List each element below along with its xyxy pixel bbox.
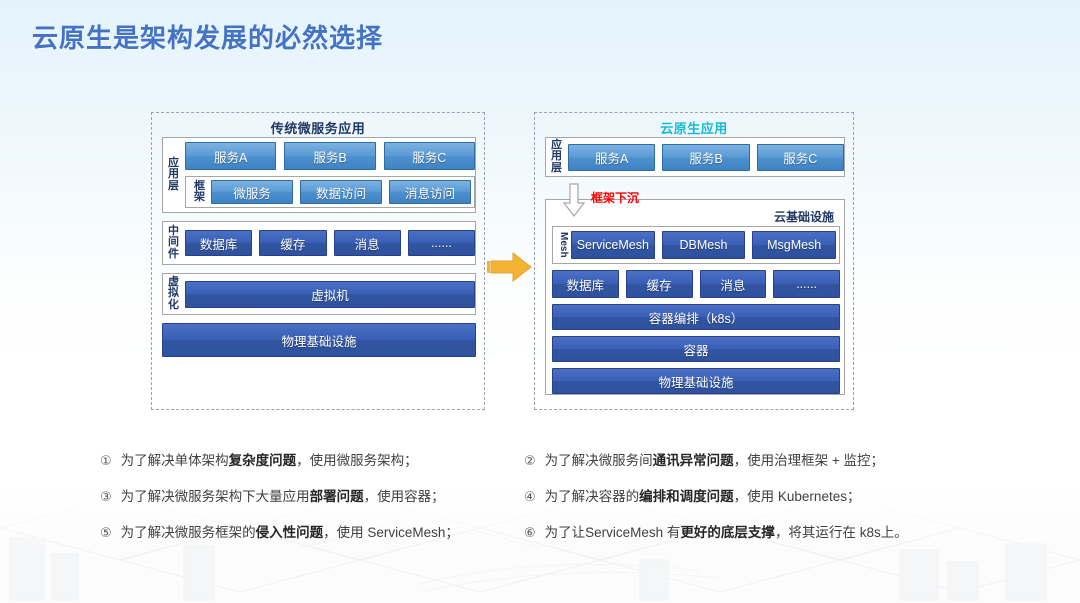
right-physical-infrastructure-box[interactable]: 物理基础设施: [552, 368, 840, 394]
left-framework-label: 框架: [192, 181, 207, 203]
right-application-layer-label: 应用层: [549, 140, 564, 174]
right-service-b-box[interactable]: 服务B: [662, 144, 749, 171]
container-box[interactable]: 容器: [552, 336, 840, 362]
note-number: ②: [524, 452, 536, 470]
service-mesh-box[interactable]: ServiceMesh: [571, 231, 655, 259]
note-text: 为了让ServiceMesh 有更好的底层支撑，将其运行在 k8s上。: [545, 524, 908, 542]
left-virtual-machine-box[interactable]: 虚拟机: [185, 281, 475, 308]
left-services-row: 服务A 服务B 服务C: [185, 142, 475, 170]
framework-sink-arrow-icon: [563, 183, 585, 217]
transition-arrow-icon: [487, 249, 535, 285]
left-virtualization-group: 虚拟化 虚拟机: [162, 273, 476, 315]
note-item: ⑤ 为了解决微服务框架的侵入性问题，使用 ServiceMesh；: [100, 524, 520, 542]
left-application-layer-group: 应用层 服务A 服务B 服务C 框架 微服务 数据访问 消息访问: [162, 137, 476, 213]
msg-mesh-box[interactable]: MsgMesh: [752, 231, 836, 259]
right-middleware-row: 数据库 缓存 消息 ......: [552, 270, 840, 298]
note-item: ③ 为了解决微服务架构下大量应用部署问题，使用容器；: [100, 488, 520, 506]
right-physical-row: 物理基础设施: [552, 368, 840, 394]
note-number: ③: [100, 488, 112, 506]
right-middleware-database-box[interactable]: 数据库: [552, 270, 619, 298]
note-text: 为了解决微服务间通讯异常问题，使用治理框架 + 监控；: [545, 452, 884, 470]
note-item: ① 为了解决单体架构复杂度问题，使用微服务架构；: [100, 452, 520, 470]
container-orchestration-box[interactable]: 容器编排（k8s）: [552, 304, 840, 330]
orchestration-row: 容器编排（k8s）: [552, 304, 840, 330]
note-item: ④ 为了解决容器的编排和调度问题，使用 Kubernetes；: [524, 488, 964, 506]
left-middleware-label: 中间件: [166, 226, 181, 260]
page-title: 云原生是架构发展的必然选择: [32, 18, 383, 55]
notes-column-right: ② 为了解决微服务间通讯异常问题，使用治理框架 + 监控； ④ 为了解决容器的编…: [524, 452, 964, 561]
note-text: 为了解决单体架构复杂度问题，使用微服务架构；: [121, 452, 418, 470]
right-middleware-cache-box[interactable]: 缓存: [626, 270, 693, 298]
left-middleware-message-box[interactable]: 消息: [334, 230, 401, 256]
mesh-side-label: Mesh: [556, 229, 571, 261]
cloud-infrastructure-group: 云基础设施 Mesh ServiceMesh DBMesh MsgMesh 数据…: [545, 199, 845, 395]
mesh-group: Mesh ServiceMesh DBMesh MsgMesh: [552, 226, 840, 264]
traditional-microservice-panel: 传统微服务应用 应用层 服务A 服务B 服务C 框架 微服务 数据访问 消息访问…: [151, 112, 485, 410]
left-framework-data-access-box[interactable]: 数据访问: [300, 180, 382, 204]
left-framework-message-access-box[interactable]: 消息访问: [389, 180, 471, 204]
left-service-b-box[interactable]: 服务B: [284, 142, 375, 170]
cloud-native-panel: 云原生应用 应用层 服务A 服务B 服务C 框架下沉 云基础设施 Mesh Se…: [534, 112, 854, 410]
note-number: ④: [524, 488, 536, 506]
left-middleware-group: 中间件 数据库 缓存 消息 ......: [162, 221, 476, 265]
right-middleware-more-box[interactable]: ......: [773, 270, 840, 298]
note-text: 为了解决微服务框架的侵入性问题，使用 ServiceMesh；: [121, 524, 459, 542]
note-number: ①: [100, 452, 112, 470]
notes-column-left: ① 为了解决单体架构复杂度问题，使用微服务架构； ③ 为了解决微服务架构下大量应…: [100, 452, 520, 561]
left-middleware-cache-box[interactable]: 缓存: [259, 230, 326, 256]
db-mesh-box[interactable]: DBMesh: [662, 231, 746, 259]
note-item: ⑥ 为了让ServiceMesh 有更好的底层支撑，将其运行在 k8s上。: [524, 524, 964, 542]
left-framework-group: 框架 微服务 数据访问 消息访问: [185, 176, 475, 208]
right-service-a-box[interactable]: 服务A: [568, 144, 655, 171]
note-text: 为了解决容器的编排和调度问题，使用 Kubernetes；: [545, 488, 861, 506]
left-framework-microservice-box[interactable]: 微服务: [211, 180, 293, 204]
right-application-layer-group: 应用层 服务A 服务B 服务C: [545, 137, 845, 177]
left-service-a-box[interactable]: 服务A: [185, 142, 276, 170]
note-number: ⑤: [100, 524, 112, 542]
cloud-infrastructure-title: 云基础设施: [774, 208, 834, 225]
right-middleware-message-box[interactable]: 消息: [700, 270, 767, 298]
left-middleware-database-box[interactable]: 数据库: [185, 230, 252, 256]
note-text: 为了解决微服务架构下大量应用部署问题，使用容器；: [121, 488, 445, 506]
framework-sink-label: 框架下沉: [591, 189, 639, 206]
note-item: ② 为了解决微服务间通讯异常问题，使用治理框架 + 监控；: [524, 452, 964, 470]
left-physical-infrastructure-box[interactable]: 物理基础设施: [162, 323, 476, 357]
left-application-layer-label: 应用层: [166, 158, 181, 192]
note-number: ⑥: [524, 524, 536, 542]
left-middleware-more-box[interactable]: ......: [408, 230, 475, 256]
cloud-native-panel-title: 云原生应用: [535, 118, 853, 137]
left-virtualization-label: 虚拟化: [166, 277, 181, 311]
container-row: 容器: [552, 336, 840, 362]
left-service-c-box[interactable]: 服务C: [384, 142, 475, 170]
traditional-panel-title: 传统微服务应用: [152, 118, 484, 137]
right-service-c-box[interactable]: 服务C: [757, 144, 844, 171]
